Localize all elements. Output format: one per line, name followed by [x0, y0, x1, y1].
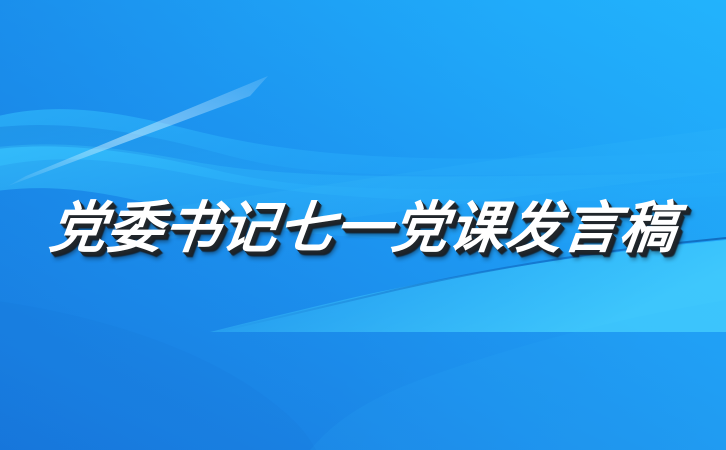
page-title: 党委书记七一党课发言稿 [46, 201, 680, 257]
title-container: 党委书记七一党课发言稿 [0, 186, 726, 272]
title-banner: 党委书记七一党课发言稿 [0, 0, 726, 450]
